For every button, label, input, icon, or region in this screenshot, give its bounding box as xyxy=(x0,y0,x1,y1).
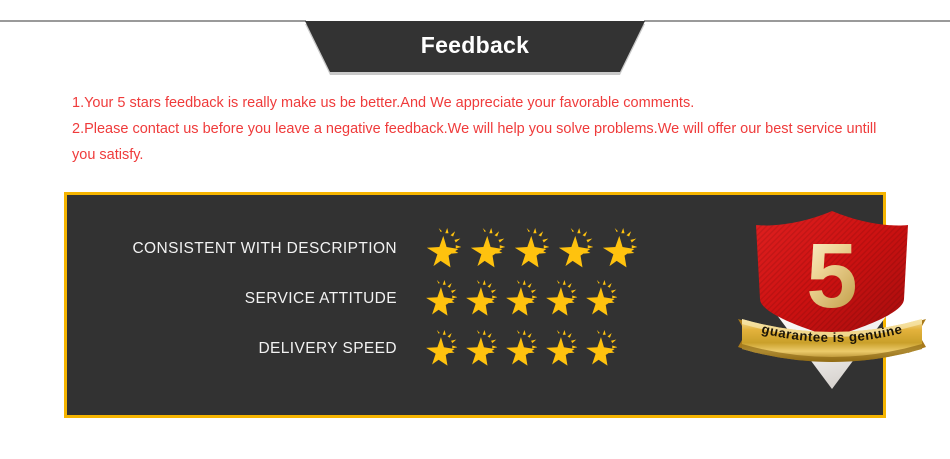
header-rule-right xyxy=(644,20,950,22)
sparkle-star-icon xyxy=(507,228,549,270)
sparkle-star-icon xyxy=(459,330,497,368)
rating-label: DELIVERY SPEED xyxy=(67,340,397,358)
sparkle-star-icon xyxy=(419,280,457,318)
star-rating xyxy=(419,280,617,318)
guarantee-shield-icon: 5 guarantee is genuine xyxy=(732,203,932,403)
star-rating xyxy=(419,228,637,270)
feedback-banner: Feedback xyxy=(305,21,645,72)
rating-row: DELIVERY SPEED xyxy=(67,325,667,373)
sparkle-star-icon xyxy=(539,330,577,368)
badge-number: 5 xyxy=(806,225,857,327)
page-title: Feedback xyxy=(421,32,530,59)
page-header: Feedback xyxy=(0,0,950,82)
sparkle-star-icon xyxy=(595,228,637,270)
sparkle-star-icon xyxy=(539,280,577,318)
header-rule-left xyxy=(0,20,306,22)
note-line-1: 1.Your 5 stars feedback is really make u… xyxy=(72,90,902,116)
rating-row: CONSISTENT WITH DESCRIPTION xyxy=(67,225,667,273)
sparkle-star-icon xyxy=(499,280,537,318)
sparkle-star-icon xyxy=(419,228,461,270)
sparkle-star-icon xyxy=(551,228,593,270)
ratings-panel: CONSISTENT WITH DESCRIPTION SERVICE ATTI… xyxy=(64,192,886,418)
sparkle-star-icon xyxy=(579,330,617,368)
sparkle-star-icon xyxy=(579,280,617,318)
rating-row: SERVICE ATTITUDE xyxy=(67,275,667,323)
sparkle-star-icon xyxy=(499,330,537,368)
sparkle-star-icon xyxy=(419,330,457,368)
sparkle-star-icon xyxy=(463,228,505,270)
feedback-notes: 1.Your 5 stars feedback is really make u… xyxy=(72,90,902,168)
sparkle-star-icon xyxy=(459,280,497,318)
ratings-list: CONSISTENT WITH DESCRIPTION SERVICE ATTI… xyxy=(67,225,667,375)
rating-label: CONSISTENT WITH DESCRIPTION xyxy=(67,240,397,258)
note-line-2: 2.Please contact us before you leave a n… xyxy=(72,116,902,168)
rating-label: SERVICE ATTITUDE xyxy=(67,290,397,308)
star-rating xyxy=(419,330,617,368)
